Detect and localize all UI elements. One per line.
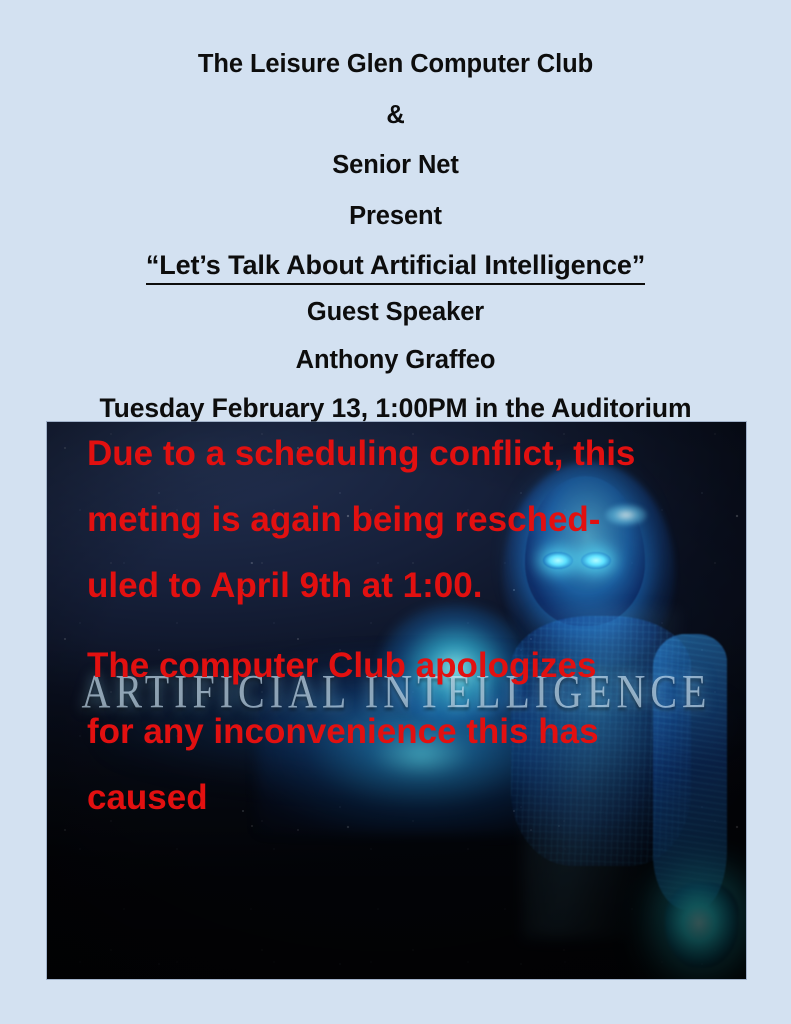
reschedule-alert-overlay: Due to a scheduling conflict, this metin… [87,436,736,815]
alert-p2-line-3: caused [87,780,736,815]
heading-line-datetime-location: Tuesday February 13, 1:00PM in the Audit… [0,395,791,422]
heading-line-senior-net: Senior Net [0,153,791,179]
alert-p2-line-1: The computer Club apologizes [87,648,736,683]
alert-p1-line-3: uled to April 9th at 1:00. [87,568,736,603]
flyer-page: The Leisure Glen Computer Club & Senior … [0,0,791,1024]
heading-line-present: Present [0,204,791,230]
heading-line-speaker-name: Anthony Graffeo [0,348,791,374]
ai-illustration-panel: ARTIFICIAL INTELLIGENCE Due to a schedul… [47,422,746,979]
heading-line-talk-title: “Let’s Talk About Artificial Intelligenc… [0,252,791,279]
alert-p2-line-2: for any inconvenience this has [87,714,736,749]
talk-title-underlined-text: “Let’s Talk About Artificial Intelligenc… [146,250,645,285]
heading-line-ampersand: & [0,103,791,129]
alert-p1-line-1: Due to a scheduling conflict, this [87,436,736,471]
heading-line-club: The Leisure Glen Computer Club [0,52,791,78]
heading-block: The Leisure Glen Computer Club & Senior … [0,0,791,422]
heading-line-guest-speaker: Guest Speaker [0,300,791,326]
alert-p1-line-2: meting is again being resched- [87,502,736,537]
